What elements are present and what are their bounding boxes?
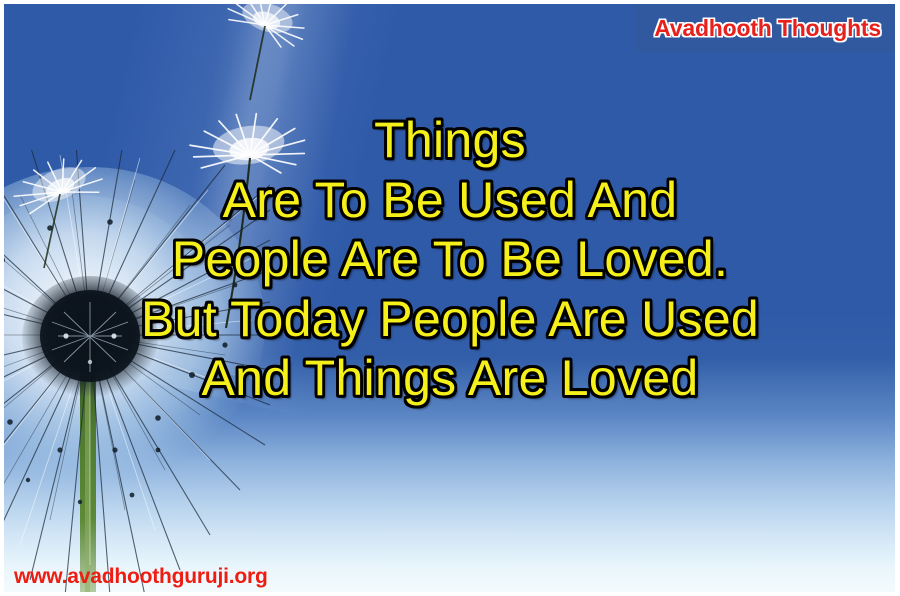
brand-title: Avadhooth Thoughts bbox=[654, 15, 881, 42]
sky-background bbox=[4, 4, 895, 592]
website-url[interactable]: www.avadhoothguruji.org bbox=[14, 565, 268, 589]
header-badge: Avadhooth Thoughts bbox=[636, 4, 895, 52]
quote-poster: Avadhooth Thoughts Things Are To Be Used… bbox=[0, 0, 900, 596]
